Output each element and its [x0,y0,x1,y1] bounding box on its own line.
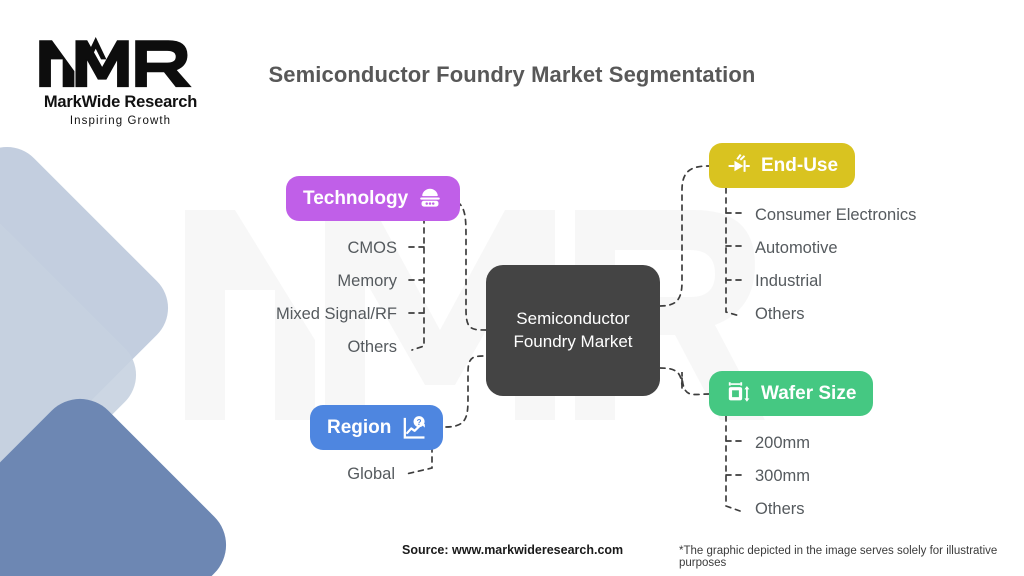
branch-node-region[interactable]: Region ? [310,405,443,450]
link-center-end-use [660,166,709,306]
source-label: Source: www.markwideresearch.com [402,543,623,557]
branch-node-end-use[interactable]: End-Use [709,143,855,188]
leaf-item: CMOS [200,232,397,265]
leaf-item: Mixed Signal/RF [200,298,397,331]
branch-label-wafer-size: Wafer Size [761,384,856,403]
leaf-list-wafer-size: 200mm 300mm Others [755,427,1015,526]
leaf-list-region: Global [240,458,395,491]
leaf-item: Memory [200,265,397,298]
branch-node-technology[interactable]: Technology [286,176,460,221]
leaf-item: Industrial [755,265,1015,298]
center-node-line1: Semiconductor [516,308,629,331]
leaf-item: Automotive [755,232,1015,265]
branch-node-wafer-size[interactable]: Wafer Size [709,371,873,416]
leaf-item: 300mm [755,460,1015,493]
leaf-item: Others [200,331,397,364]
svg-text:?: ? [417,417,422,426]
leaf-item: Global [240,458,395,491]
dimension-measure-icon [726,381,752,407]
center-node-line2: Foundry Market [513,331,632,354]
branch-label-region: Region [327,418,391,437]
leaf-item: Consumer Electronics [755,199,1015,232]
leaf-list-end-use: Consumer Electronics Automotive Industri… [755,199,1015,331]
leaf-item: Others [755,298,1015,331]
led-diode-icon [726,153,752,179]
link-center-wafer-size [660,368,709,395]
disclaimer-label: *The graphic depicted in the image serve… [679,545,1024,569]
leaf-list-technology: CMOS Memory Mixed Signal/RF Others [200,232,397,364]
chart-question-icon: ? [400,415,426,441]
link-wafer-size-spine [726,416,740,511]
infographic-canvas: MarkWide Research Inspiring Growth Semic… [0,0,1024,576]
branch-label-technology: Technology [303,189,408,208]
center-node[interactable]: Semiconductor Foundry Market [486,265,660,396]
link-region-center [446,356,486,427]
link-end-use-spine [726,188,740,316]
leaf-item: Others [755,493,1015,526]
leaf-item: 200mm [755,427,1015,460]
branch-label-end-use: End-Use [761,156,838,175]
robot-head-icon [417,186,443,212]
